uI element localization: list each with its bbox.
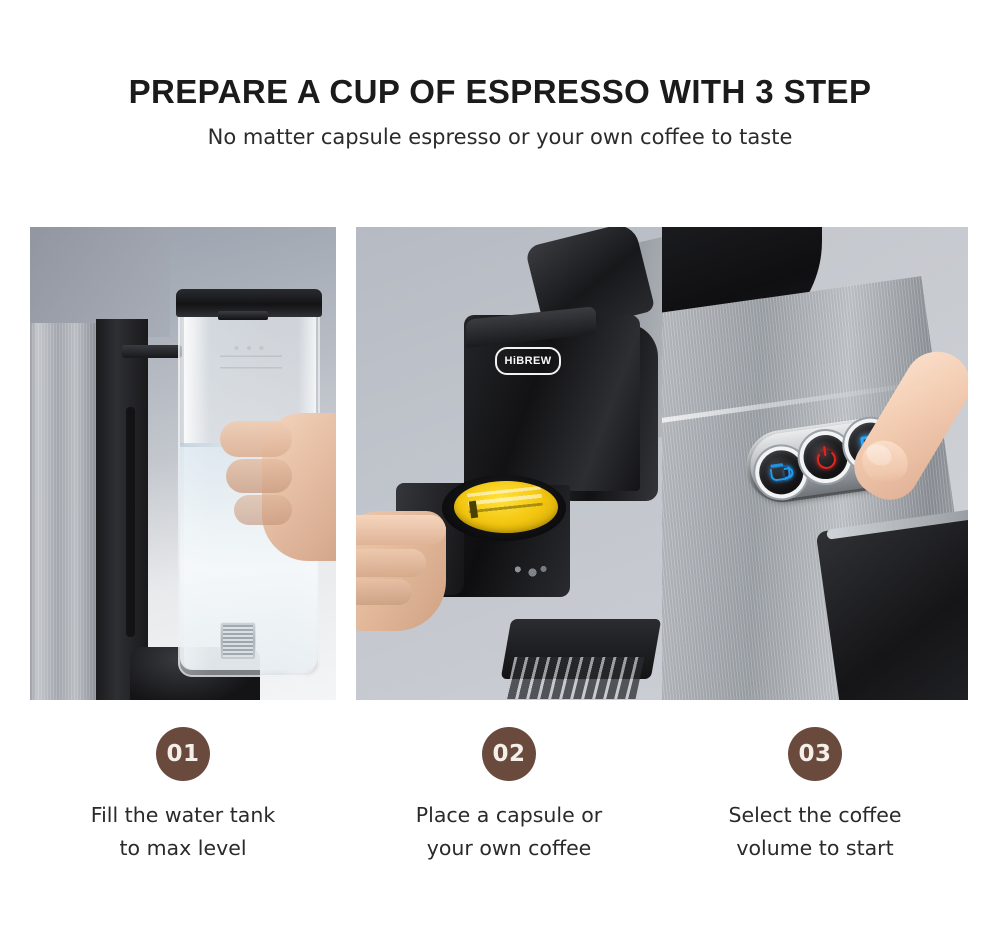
step-caption-1: Fill the water tank to max level	[30, 799, 336, 865]
step-badge-01: 01	[156, 727, 210, 781]
step-item-3: 03 Select the coffee volume to start	[662, 727, 968, 865]
promo-page: PREPARE A CUP OF ESPRESSO WITH 3 STEP No…	[0, 0, 1000, 933]
step-list: 01 Fill the water tank to max level 02 P…	[0, 0, 1000, 933]
step-badge-03: 03	[788, 727, 842, 781]
step-item-2: 02 Place a capsule or your own coffee	[356, 727, 662, 865]
step-item-1: 01 Fill the water tank to max level	[30, 727, 336, 865]
step-caption-3: Select the coffee volume to start	[662, 799, 968, 865]
step-badge-02: 02	[482, 727, 536, 781]
step-caption-2: Place a capsule or your own coffee	[356, 799, 662, 865]
